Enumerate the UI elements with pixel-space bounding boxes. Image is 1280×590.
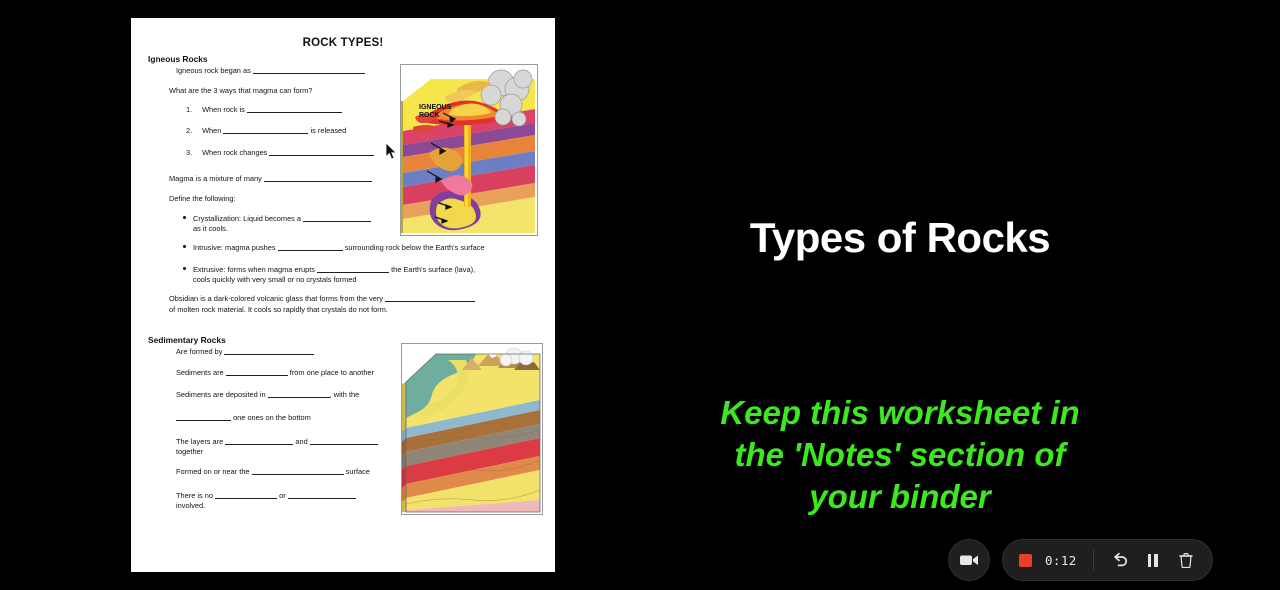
- line-text-mid: and: [295, 437, 307, 446]
- slide-note-line-1: Keep this worksheet in: [560, 392, 1240, 434]
- sedimentary-line-5-second: together: [176, 447, 203, 457]
- igneous-intro-text: Igneous rock began as: [176, 66, 251, 75]
- definition-text: Intrusive: magma pushes: [193, 243, 276, 252]
- sedimentary-rock-diagram: [401, 343, 543, 515]
- definition-second-line: as it cools.: [193, 224, 383, 234]
- bullet-icon: [183, 267, 186, 270]
- line-text-after: surface: [346, 467, 370, 476]
- definition-text-after: the Earth's surface (lava),: [391, 265, 475, 274]
- blank-field[interactable]: [264, 181, 372, 182]
- bullet-icon: [183, 245, 186, 248]
- line-text: The layers are: [176, 437, 223, 446]
- stop-recording-button[interactable]: [1019, 554, 1032, 567]
- mouse-cursor: [386, 143, 399, 166]
- blank-field[interactable]: [310, 444, 378, 445]
- igneous-question: What are the 3 ways that magma can form?: [169, 86, 312, 96]
- line-text-mid: or: [279, 491, 286, 500]
- obsidian-line-2: of molten rock material. It cools so rap…: [169, 305, 388, 315]
- blank-field[interactable]: [176, 420, 231, 421]
- line-text: There is no: [176, 491, 213, 500]
- blank-field[interactable]: [226, 375, 288, 376]
- item-text: When rock changes: [202, 148, 267, 157]
- undo-button[interactable]: [1110, 550, 1130, 570]
- blank-field[interactable]: [269, 155, 374, 156]
- igneous-item-3: 3. When rock changes: [186, 148, 374, 158]
- recording-timer: 0:12: [1045, 553, 1077, 568]
- item-number: 3.: [186, 148, 200, 158]
- item-number: 2.: [186, 126, 200, 136]
- definition-intrusive: Intrusive: magma pushes surrounding rock…: [183, 243, 485, 253]
- delete-button[interactable]: [1176, 550, 1196, 570]
- blank-field[interactable]: [278, 250, 343, 251]
- slide-note-line-2: the 'Notes' section of: [560, 434, 1240, 476]
- definition-second-line: cools quickly with very small or no crys…: [193, 275, 475, 285]
- recording-toolbar: 0:12: [948, 539, 1213, 581]
- blank-field[interactable]: [215, 498, 277, 499]
- blank-field[interactable]: [247, 112, 342, 113]
- igneous-intro-line: Igneous rock began as: [176, 66, 365, 76]
- igneous-section-heading: Igneous Rocks: [148, 54, 208, 64]
- page-title: Types of Rocks: [560, 214, 1240, 262]
- blank-field[interactable]: [253, 73, 365, 74]
- blank-field[interactable]: [385, 301, 475, 302]
- video-camera-icon: [959, 552, 979, 568]
- sedimentary-section-heading: Sedimentary Rocks: [148, 335, 226, 345]
- sedimentary-line-3: Sediments are deposited in , with the: [176, 390, 359, 400]
- igneous-rock-diagram: IGNEOUS ROCK: [400, 64, 538, 236]
- definition-crystallization: Crystallization: Liquid becomes a as it …: [183, 214, 383, 234]
- svg-text:ROCK: ROCK: [419, 112, 440, 119]
- igneous-item-2: 2. When is released: [186, 126, 346, 136]
- pause-button[interactable]: [1143, 550, 1163, 570]
- worksheet-page[interactable]: ROCK TYPES! Igneous Rocks Igneous rock b…: [131, 18, 555, 572]
- definition-text: Crystallization: Liquid becomes a: [193, 214, 301, 223]
- blank-field[interactable]: [224, 354, 314, 355]
- sedimentary-line-7-second: involved.: [176, 501, 205, 511]
- sedimentary-line-4: one ones on the bottom: [176, 413, 311, 423]
- line-text: Are formed by: [176, 347, 222, 356]
- blank-field[interactable]: [252, 474, 344, 475]
- obsidian-text: Obsidian is a dark-colored volcanic glas…: [169, 294, 383, 303]
- define-label: Define the following:: [169, 194, 236, 204]
- camera-button[interactable]: [948, 539, 990, 581]
- sedimentary-line-5: The layers are and: [176, 437, 378, 447]
- toolbar-divider: [1093, 550, 1094, 570]
- undo-icon: [1111, 552, 1129, 568]
- blank-field[interactable]: [317, 272, 389, 273]
- worksheet-title: ROCK TYPES!: [131, 37, 555, 49]
- screen-root: ROCK TYPES! Igneous Rocks Igneous rock b…: [0, 0, 1280, 590]
- blank-field[interactable]: [268, 397, 330, 398]
- svg-text:IGNEOUS: IGNEOUS: [419, 104, 452, 111]
- item-text: When: [202, 126, 221, 135]
- line-text-after: one ones on the bottom: [233, 413, 311, 422]
- sedimentary-line-7: There is no or: [176, 491, 356, 501]
- magma-mixture-text: Magma is a mixture of many: [169, 174, 262, 183]
- blank-field[interactable]: [225, 444, 293, 445]
- recording-controls-pill: 0:12: [1002, 539, 1213, 581]
- sedimentary-line-2: Sediments are from one place to another: [176, 368, 374, 378]
- line-text-after: , with the: [330, 390, 360, 399]
- definition-extrusive: Extrusive: forms when magma erupts the E…: [183, 265, 475, 285]
- line-text: Sediments are: [176, 368, 224, 377]
- slide-note-line-3: your binder: [560, 476, 1240, 518]
- obsidian-line-1: Obsidian is a dark-colored volcanic glas…: [169, 294, 475, 304]
- bullet-icon: [183, 216, 186, 219]
- item-number: 1.: [186, 105, 200, 115]
- item-text: When rock is: [202, 105, 245, 114]
- sedimentary-line-1: Are formed by: [176, 347, 314, 357]
- sedimentary-line-6: Formed on or near the surface: [176, 467, 370, 477]
- slide-note: Keep this worksheet in the 'Notes' secti…: [560, 392, 1240, 519]
- definition-text: Extrusive: forms when magma erupts: [193, 265, 315, 274]
- definition-text-after: surrounding rock below the Earth's surfa…: [345, 243, 485, 252]
- magma-mixture-line: Magma is a mixture of many: [169, 174, 372, 184]
- blank-field[interactable]: [303, 221, 371, 222]
- item-text-after: is released: [311, 126, 347, 135]
- blank-field[interactable]: [223, 133, 308, 134]
- blank-field[interactable]: [288, 498, 356, 499]
- line-text: Sediments are deposited in: [176, 390, 266, 399]
- line-text: Formed on or near the: [176, 467, 250, 476]
- line-text-after: from one place to another: [290, 368, 374, 377]
- trash-icon: [1179, 552, 1193, 568]
- pause-icon: [1148, 554, 1158, 567]
- igneous-item-1: 1. When rock is: [186, 105, 342, 115]
